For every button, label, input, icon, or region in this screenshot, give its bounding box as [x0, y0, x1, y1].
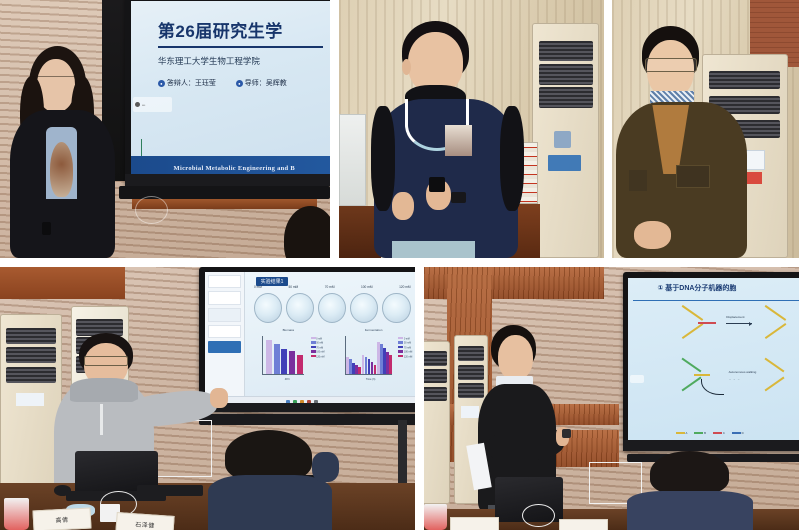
air-conditioner-unit-left — [424, 341, 450, 504]
dna-strand — [682, 323, 704, 339]
ac-sticker — [554, 131, 571, 147]
bar-group — [362, 336, 377, 375]
audience-jacket — [208, 475, 333, 530]
bar — [281, 349, 287, 374]
ear — [402, 59, 411, 76]
bar — [297, 355, 303, 375]
smartboard-screen: 第26届研究生学 华东理工大学生物工程学院 ● 答辩人：王珏莹 ● 导师：吴辉教 — [131, 1, 330, 180]
petri-dish — [382, 293, 410, 323]
dna-strand — [765, 377, 785, 392]
thumbnail-label: ••• — [142, 103, 145, 107]
nameplate: 石泽健 — [116, 512, 175, 530]
jacket-pocket-left — [629, 170, 647, 191]
photo-4-female-presenter-results-slide: 实验结果1 0 mM 50 mM 70 mM 100 mM — [0, 267, 415, 530]
bar-group — [377, 336, 392, 375]
diagram-label-displacement: Displacement — [726, 315, 744, 319]
arrow-row: →→→ — [729, 378, 742, 381]
clicker — [562, 429, 570, 437]
nameplate — [450, 517, 499, 530]
wood-panel-top — [0, 267, 125, 299]
person-icon: ● — [158, 80, 165, 87]
smartboard[interactable]: 实验结果1 0 mM 50 mM 70 mM 100 mM — [199, 267, 415, 412]
ac-brand-mark — [548, 155, 581, 171]
diagram-label-walking: Autonomous walking — [729, 370, 757, 374]
photo-collage: 第26届研究生学 华东理工大学生物工程学院 ● 答辩人：王珏莹 ● 导师：吴辉教 — [0, 0, 799, 530]
dna-strand — [765, 358, 785, 373]
photo-2-male-presenter-navy-vest — [339, 0, 604, 258]
sleeve-right — [500, 106, 525, 210]
person-icon: ● — [236, 80, 243, 87]
chart-b-title: Biomass — [252, 328, 324, 332]
ac-vent — [539, 87, 593, 108]
petri-dish — [318, 293, 346, 323]
presenter-person — [10, 46, 116, 258]
paper-cup — [424, 504, 447, 530]
bar-group — [346, 336, 361, 375]
bar — [289, 351, 295, 375]
paper-cup — [4, 498, 29, 530]
pointing-hand — [210, 388, 229, 408]
slide-thumb[interactable] — [208, 291, 241, 305]
hoodie-hood — [70, 378, 137, 402]
chart-biomass: Biomass 48 h 0 mM 50 mM 70 mM — [252, 331, 324, 383]
clicker — [429, 177, 444, 191]
glasses-icon — [38, 76, 74, 84]
smartboard[interactable]: 第26届研究生学 华东理工大学生物工程学院 ● 答辩人：王珏莹 ● 导师：吴辉教 — [125, 0, 330, 186]
chest-pocket — [445, 125, 473, 156]
petri-dish — [350, 293, 378, 323]
petri-dish — [286, 293, 314, 323]
dna-strand — [765, 305, 787, 321]
glasses-icon — [645, 58, 697, 72]
strand-legend: A B C D — [676, 431, 799, 435]
ac-vent — [424, 369, 447, 383]
slide-title: 第26届研究生学 — [158, 17, 330, 42]
audience-raised-arm — [312, 452, 339, 482]
head — [498, 335, 533, 380]
dna-strand — [682, 358, 702, 373]
nameplate — [559, 519, 608, 530]
dna-strand — [682, 305, 704, 321]
ac-label — [16, 393, 44, 405]
screen-side-chip[interactable] — [630, 375, 645, 383]
smartboard-screen: 实验结果1 0 mM 50 mM 70 mM 100 mM — [205, 272, 415, 407]
dish-label-row: 0 mM 50 mM 70 mM 100 mM 120 mM — [254, 285, 411, 289]
dna-strand — [698, 322, 716, 324]
presenter-person — [371, 21, 525, 258]
photo-3-male-presenter-brown-jacket — [612, 0, 799, 258]
ac-vent — [6, 328, 57, 344]
slide-title-rule — [158, 46, 323, 48]
bar — [274, 344, 280, 375]
dna-strand — [765, 323, 787, 339]
smartboard-bezel — [623, 440, 799, 451]
chart-fermentation: Fermentation — [335, 331, 412, 383]
arrow-head-icon — [749, 322, 752, 326]
smartboard-speaker-bar — [199, 414, 415, 425]
audience-jacket — [627, 491, 753, 530]
arrow-line — [726, 323, 751, 324]
audience-person — [208, 430, 333, 530]
slide-canvas: 实验结果1 0 mM 50 mM 70 mM 100 mM — [245, 272, 415, 397]
ac-vent — [539, 64, 593, 85]
chart-c-xlabel: Time (h) — [366, 378, 376, 381]
slide-subtitle: 华东理工大学生物工程学院 — [158, 55, 330, 67]
mouse[interactable] — [54, 485, 71, 496]
slide-thumb[interactable] — [208, 308, 241, 322]
hands-clasped — [634, 221, 671, 249]
dna-diagram-walking: Autonomous walking →→→ — [676, 362, 791, 409]
slide-title-rule — [633, 300, 799, 301]
ac-vent — [6, 367, 57, 383]
trousers — [392, 241, 475, 258]
chart-c-title: Fermentation — [335, 328, 412, 332]
slide-thumb[interactable] — [208, 325, 241, 339]
chart-b-axes — [262, 336, 304, 376]
slide-title: ① 基于DNA分子机器的胞 — [657, 283, 799, 293]
air-conditioner-unit-left — [0, 314, 62, 493]
sleeve-left — [371, 106, 396, 210]
glasses-icon — [84, 356, 128, 366]
petri-dish — [254, 293, 282, 323]
presentation-sidebar[interactable] — [205, 272, 245, 397]
slide-title-chip: 实验结果1 — [256, 277, 289, 286]
hand-left — [392, 192, 414, 220]
air-conditioner-unit — [532, 23, 598, 258]
ac-vent — [424, 351, 447, 365]
wristwatch — [451, 192, 466, 204]
smartboard-bezel — [199, 403, 415, 412]
dna-strand — [694, 374, 710, 376]
hoodie-drawstring — [100, 404, 102, 436]
slide-presenter-line: ● 答辩人：王珏莹 — [158, 78, 216, 88]
keyboard[interactable] — [137, 485, 203, 496]
photo-1-female-presenter-title-slide: 第26届研究生学 华东理工大学生物工程学院 ● 答辩人：王珏莹 ● 导师：吴辉教 — [0, 0, 330, 258]
ac-vent — [424, 387, 447, 401]
bar — [266, 340, 272, 374]
ac-vent — [6, 347, 57, 363]
chart-b-legend: 0 mM 50 mM 70 mM 100 mM 120 mM — [311, 337, 325, 359]
smartboard-bezel — [125, 174, 330, 185]
presenter-person — [616, 26, 747, 258]
clicker-in-hand — [42, 222, 52, 235]
smartboard[interactable]: ① 基于DNA分子机器的胞 Displacement — [623, 272, 799, 451]
slide-advisor-line: ● 导师：吴辉教 — [236, 78, 287, 88]
smartboard-screen: ① 基于DNA分子机器的胞 Displacement — [628, 278, 799, 445]
slide-thumb[interactable] — [208, 275, 241, 289]
nameplate: 高倩 — [33, 507, 92, 530]
avatar-icon — [135, 102, 140, 107]
ac-vent — [539, 41, 593, 62]
dna-diagram-displacement: Displacement — [676, 308, 791, 352]
chart-c-legend: 0 mM 50 mM 70 mM 100 mM 120 mM — [398, 337, 412, 359]
jacket-pocket — [676, 165, 710, 188]
chart-c-axes — [345, 336, 392, 376]
tshirt-graphic — [50, 142, 73, 197]
audience-person — [634, 451, 747, 530]
walking-path — [701, 379, 724, 396]
window-panel-left — [339, 114, 366, 207]
audience-head — [650, 451, 729, 495]
slide-thumb-active[interactable] — [208, 341, 241, 352]
petri-dish-row — [254, 293, 411, 323]
chart-b-xlabel: 48 h — [285, 378, 290, 381]
dna-strand — [682, 377, 702, 392]
meeting-thumbnail[interactable]: ••• — [133, 97, 172, 111]
photo-5-male-presenter-dna-slide: ① 基于DNA分子机器的胞 Displacement — [424, 267, 799, 530]
